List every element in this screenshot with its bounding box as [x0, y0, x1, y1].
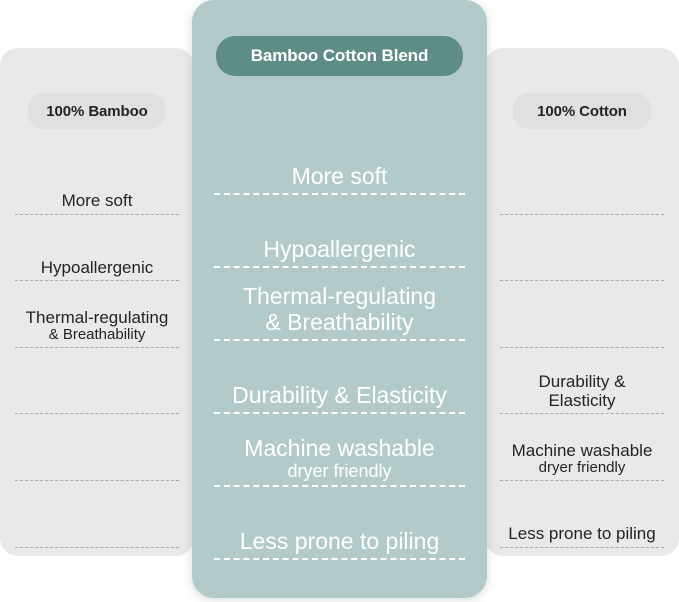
feature-sublabel: dryer friendly [539, 460, 626, 477]
comparison-column-cotton: 100% Cotton Durability & Elasticity [485, 48, 679, 556]
feature-row-empty [485, 148, 679, 215]
feature-row: Durability & Elasticity [485, 348, 679, 415]
feature-absent [14, 348, 180, 411]
feature-list-blend: More soft Hypoallergenic Thermal-regulat… [192, 122, 487, 560]
feature-label: Thermal-regulating [243, 283, 436, 309]
column-badge-bamboo: 100% Bamboo [28, 93, 166, 129]
row-divider [15, 547, 179, 548]
feature-absent [499, 215, 665, 278]
feature-absent [499, 281, 665, 344]
fabric-comparison-infographic: 100% Bamboo More soft Hypoallergenic The… [0, 0, 679, 602]
comparison-column-bamboo: 100% Bamboo More soft Hypoallergenic The… [0, 48, 194, 556]
feature-label: Hypoallergenic [41, 258, 153, 277]
feature-sublabel: & Breathability [49, 327, 146, 344]
column-badge-label: 100% Cotton [537, 103, 627, 120]
feature-label-line2: & Breathability [265, 309, 413, 335]
feature-label: Durability & Elasticity [232, 382, 447, 408]
feature-label: Machine washable [244, 435, 435, 461]
feature-row: Durability & Elasticity [192, 341, 487, 414]
comparison-column-blend-highlighted: Bamboo Cotton Blend More soft Hypoallerg… [192, 0, 487, 598]
feature-row-empty [485, 281, 679, 348]
feature-label: Durability & [539, 372, 626, 391]
feature-label: Machine washable [512, 441, 653, 460]
feature-label: More soft [62, 191, 133, 210]
feature-row: Thermal-regulating & Breathability [192, 268, 487, 341]
column-badge-cotton: 100% Cotton [513, 93, 651, 129]
feature-absent [14, 414, 180, 477]
feature-label: Less prone to piling [240, 528, 439, 554]
feature-row: Less prone to piling [485, 481, 679, 548]
feature-sublabel: dryer friendly [287, 461, 391, 481]
feature-row-empty [0, 348, 194, 415]
feature-absent [499, 148, 665, 211]
feature-row: More soft [192, 122, 487, 195]
feature-label-line2: Elasticity [548, 391, 615, 410]
feature-list-cotton: Durability & Elasticity Machine washable… [485, 148, 679, 548]
feature-row-empty [0, 481, 194, 548]
feature-row: Hypoallergenic [192, 195, 487, 268]
feature-absent [14, 481, 180, 544]
feature-row: Less prone to piling [192, 487, 487, 560]
feature-row-empty [485, 215, 679, 282]
column-badge-blend: Bamboo Cotton Blend [216, 36, 463, 76]
feature-label: Thermal-regulating [26, 308, 169, 327]
column-badge-label: Bamboo Cotton Blend [251, 46, 429, 66]
feature-row: Hypoallergenic [0, 215, 194, 282]
feature-label: Less prone to piling [508, 524, 655, 543]
column-badge-label: 100% Bamboo [46, 103, 147, 120]
row-divider [500, 547, 664, 548]
feature-row: Thermal-regulating & Breathability [0, 281, 194, 348]
feature-row: Machine washable dryer friendly [192, 414, 487, 487]
feature-row: More soft [0, 148, 194, 215]
feature-label: Hypoallergenic [263, 236, 415, 262]
feature-list-bamboo: More soft Hypoallergenic Thermal-regulat… [0, 148, 194, 548]
feature-row-empty [0, 414, 194, 481]
feature-row: Machine washable dryer friendly [485, 414, 679, 481]
row-divider [214, 558, 465, 560]
feature-label: More soft [292, 163, 388, 189]
